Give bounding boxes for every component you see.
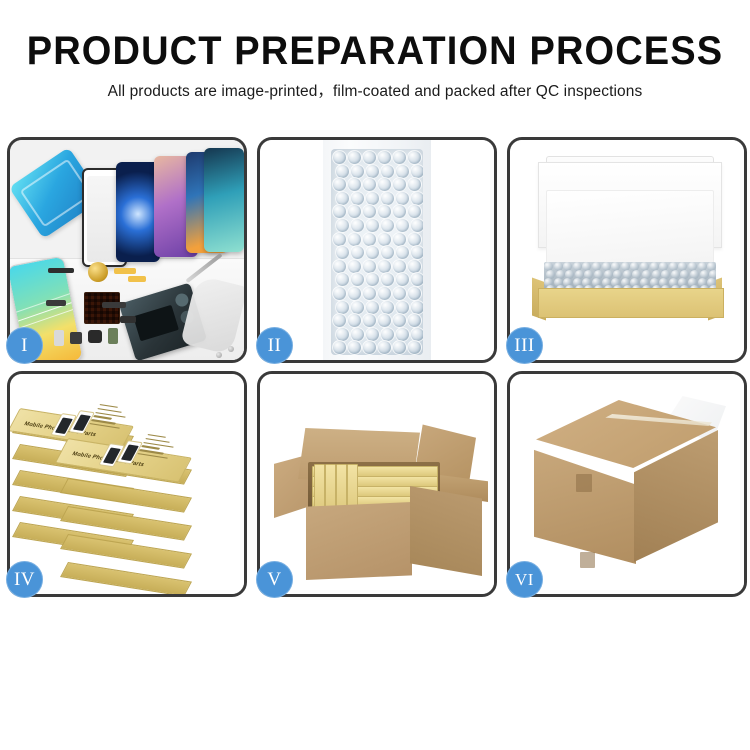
carton-tab-lower bbox=[580, 552, 595, 568]
bubble bbox=[332, 177, 347, 192]
process-step-1: I bbox=[7, 137, 247, 363]
step-6-image bbox=[510, 374, 744, 594]
carton-front-face bbox=[306, 502, 412, 580]
bubble bbox=[407, 313, 422, 328]
battery-part bbox=[108, 328, 118, 344]
bubble bbox=[335, 245, 350, 260]
bubble bbox=[332, 313, 347, 328]
foam-liner bbox=[546, 190, 714, 270]
bubble bbox=[410, 272, 423, 287]
header: PRODUCT PREPARATION PROCESS All products… bbox=[0, 0, 750, 103]
connector-part bbox=[120, 316, 136, 323]
ribbon-cable-part bbox=[102, 302, 126, 308]
retail-box-side bbox=[60, 562, 192, 594]
bubble bbox=[392, 204, 407, 219]
bubble bbox=[362, 177, 377, 192]
bubble bbox=[365, 218, 380, 233]
process-step-5: V bbox=[257, 371, 497, 597]
step-5-image bbox=[260, 374, 494, 594]
process-step-2: II bbox=[257, 137, 497, 363]
bubble bbox=[392, 340, 407, 355]
bubble bbox=[407, 340, 422, 355]
bubble bbox=[347, 204, 362, 219]
screw-part-b bbox=[216, 352, 222, 358]
carton-side-face bbox=[410, 486, 482, 576]
bubble bbox=[347, 313, 362, 328]
bubble bbox=[350, 218, 365, 233]
earpiece-mesh-part bbox=[48, 268, 74, 273]
bubble bbox=[347, 177, 362, 192]
infographic-page: PRODUCT PREPARATION PROCESS All products… bbox=[0, 0, 750, 750]
bubble bbox=[377, 340, 392, 355]
bubble bbox=[335, 218, 350, 233]
retail-box bbox=[68, 522, 190, 545]
step-3-image bbox=[510, 140, 744, 360]
bubble bbox=[380, 218, 395, 233]
sim-tray-part bbox=[54, 330, 64, 346]
bubble bbox=[377, 313, 392, 328]
bubble bbox=[377, 286, 392, 301]
bubble bbox=[392, 177, 407, 192]
flex-cable-lower bbox=[128, 276, 146, 282]
step-badge-5: V bbox=[256, 561, 293, 598]
bubble bbox=[407, 204, 422, 219]
bubble bbox=[362, 150, 377, 165]
flex-cable-upper bbox=[114, 268, 136, 274]
screw-tray-part bbox=[84, 292, 120, 324]
camera-module-part bbox=[70, 332, 82, 344]
page-subtitle: All products are image-printed，film-coat… bbox=[0, 81, 750, 103]
process-grid: I II III Mobile bbox=[7, 137, 743, 597]
bubble bbox=[392, 313, 407, 328]
screw-part-a bbox=[228, 346, 234, 352]
retail-box-stack: Mobile Phone Spare PartsMobile Phone Spa… bbox=[10, 374, 244, 594]
bubble bbox=[395, 218, 410, 233]
step-badge-2: II bbox=[256, 327, 293, 364]
process-step-3: III bbox=[507, 137, 747, 363]
speaker-part bbox=[88, 330, 102, 343]
bubble bbox=[392, 286, 407, 301]
retail-box: Mobile Phone Spare Parts bbox=[20, 408, 132, 429]
bubble bbox=[395, 245, 410, 260]
retail-box bbox=[68, 494, 190, 517]
retail-box bbox=[68, 550, 190, 573]
mailer-front-wall bbox=[538, 288, 724, 318]
bubble bbox=[350, 245, 365, 260]
retail-box bbox=[68, 466, 190, 489]
step-4-image: Mobile Phone Spare PartsMobile Phone Spa… bbox=[10, 374, 244, 594]
step-badge-4: IV bbox=[6, 561, 43, 598]
bubble bbox=[347, 340, 362, 355]
bubble bbox=[362, 340, 377, 355]
bubble bbox=[365, 245, 380, 260]
bubble bbox=[362, 204, 377, 219]
bubble bbox=[407, 150, 422, 165]
bubble bbox=[392, 150, 407, 165]
step-badge-3: III bbox=[506, 327, 543, 364]
bubble bbox=[380, 245, 395, 260]
bubble-wrap-pouch bbox=[331, 149, 423, 355]
bubble bbox=[347, 150, 362, 165]
process-step-6: VI bbox=[507, 371, 747, 597]
bubble bbox=[332, 204, 347, 219]
bubble bbox=[347, 286, 362, 301]
bubble bbox=[332, 150, 347, 165]
bubble bbox=[362, 313, 377, 328]
step-2-image bbox=[260, 140, 494, 360]
phone-teal-display bbox=[204, 148, 244, 252]
step-1-image bbox=[10, 140, 244, 360]
bubble bbox=[410, 245, 423, 260]
antenna-cable-part bbox=[46, 300, 66, 306]
bubble bbox=[332, 340, 347, 355]
bubble bbox=[377, 150, 392, 165]
bubble bbox=[377, 177, 392, 192]
bubble bbox=[362, 286, 377, 301]
retail-box: Mobile Phone Spare Parts bbox=[68, 438, 190, 461]
bubble bbox=[410, 218, 423, 233]
page-title: PRODUCT PREPARATION PROCESS bbox=[19, 28, 732, 74]
phone-lineup bbox=[82, 152, 242, 264]
bubble bbox=[377, 204, 392, 219]
process-step-4: Mobile Phone Spare PartsMobile Phone Spa… bbox=[7, 371, 247, 597]
vibration-motor-part bbox=[88, 262, 108, 282]
bubble bbox=[332, 286, 347, 301]
step-badge-6: VI bbox=[506, 561, 543, 598]
bubble bbox=[407, 286, 422, 301]
step-badge-1: I bbox=[6, 327, 43, 364]
carton-tab-upper bbox=[576, 474, 592, 492]
bubble bbox=[407, 177, 422, 192]
